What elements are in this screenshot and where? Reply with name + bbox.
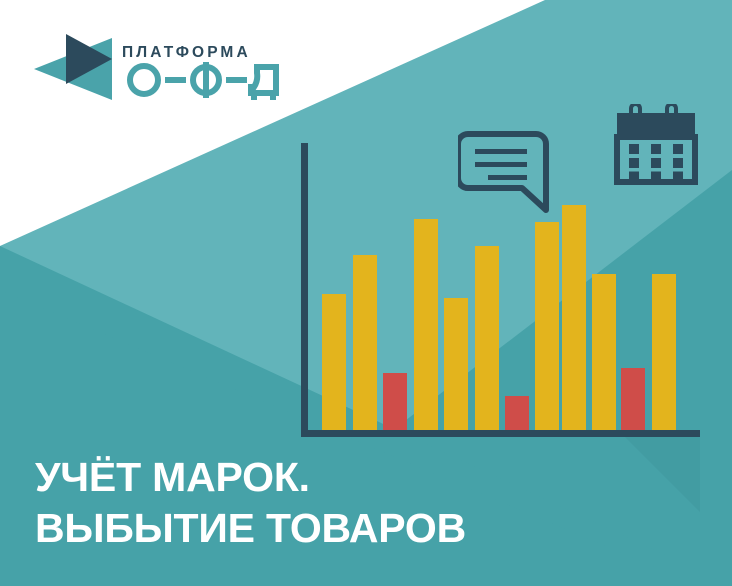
ofd-letter-o: [130, 66, 158, 94]
platforma-ofd-triangle-mark: [34, 26, 112, 100]
calendar-header: [617, 113, 695, 137]
brand-logo[interactable]: ПЛАТФОРМА: [34, 26, 264, 100]
poster-title: УЧЁТ МАРОК. ВЫБЫТИЕ ТОВАРОВ: [35, 452, 655, 554]
calendar-icon: [613, 104, 699, 186]
ofd-letter-d-leg-left: [251, 93, 257, 100]
ofd-dash-2: [226, 77, 247, 83]
speech-bubble-icon: [458, 130, 550, 230]
ofd-letter-d: [251, 67, 276, 93]
title-line-1: УЧЁТ МАРОК.: [35, 452, 655, 503]
title-line-2: ВЫБЫТИЕ ТОВАРОВ: [35, 503, 655, 554]
speech-bubble-line-3: [488, 175, 527, 180]
calendar-cell-6: [673, 158, 683, 168]
calendar-cell-9: [673, 172, 683, 180]
brand-wordmark: ПЛАТФОРМА: [122, 28, 272, 98]
calendar-cell-8: [651, 172, 661, 180]
calendar-cell-4: [629, 158, 639, 168]
brand-name-ofd: [122, 60, 282, 100]
calendar-cell-1: [629, 144, 639, 154]
speech-bubble-outline: [458, 134, 546, 210]
speech-bubble-line-1: [475, 149, 527, 154]
ofd-letter-d-leg-right: [270, 93, 276, 100]
calendar-day-cells: [629, 144, 683, 180]
speech-bubble-line-2: [475, 162, 527, 167]
calendar-cell-3: [673, 144, 683, 154]
ofd-letter-f-stem: [203, 62, 209, 98]
poster-canvas: ПЛАТФОРМА УЧЁТ МАРОК. ВЫБЫТИЕ ТОВАРОВ: [0, 0, 732, 586]
ofd-dash-1: [165, 77, 186, 83]
calendar-cell-7: [629, 172, 639, 180]
calendar-cell-5: [651, 158, 661, 168]
calendar-cell-2: [651, 144, 661, 154]
